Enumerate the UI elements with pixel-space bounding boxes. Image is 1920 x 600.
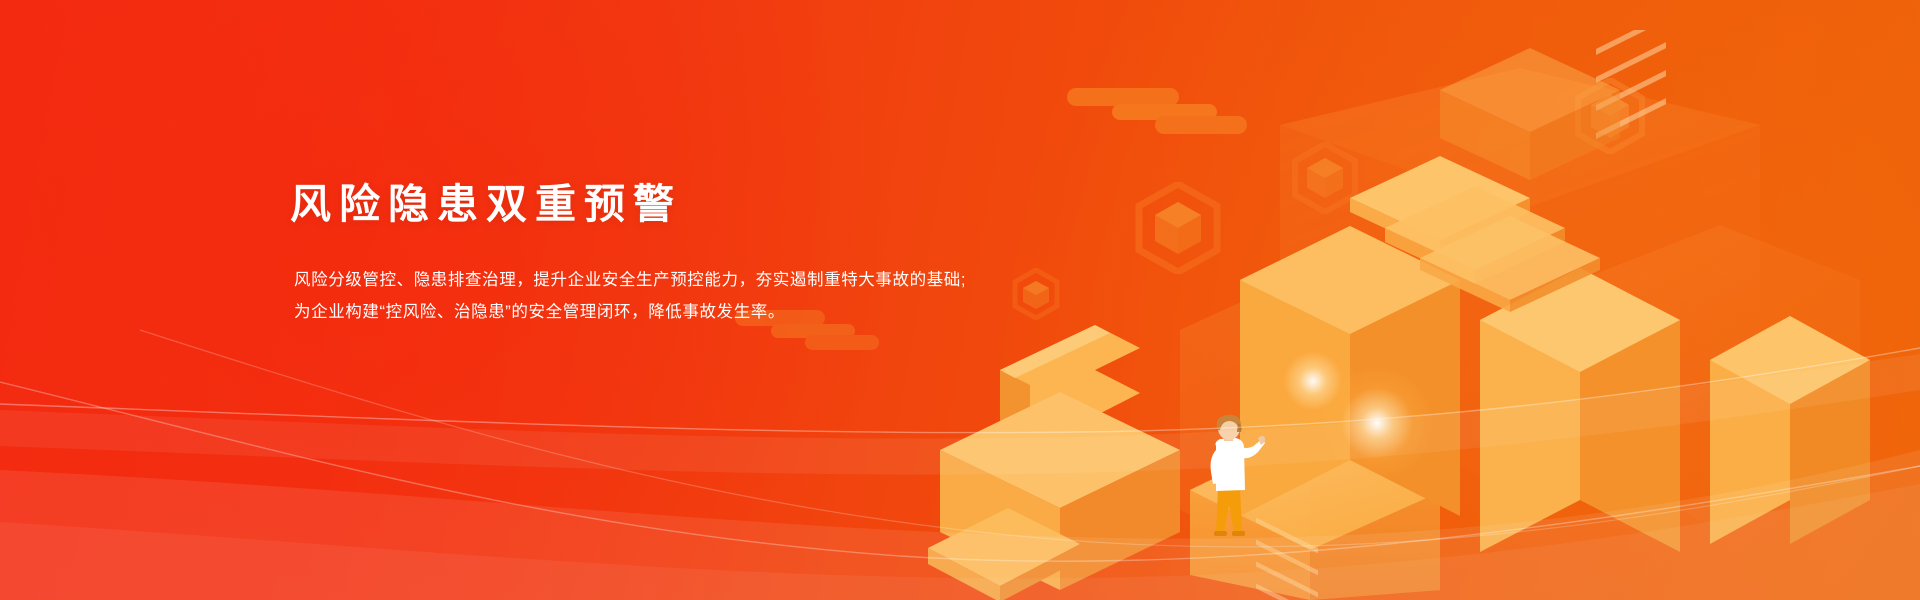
page-title: 风险隐患双重预警 (290, 178, 1070, 231)
hero-banner: 风险隐患双重预警 风险分级管控、隐患排查治理，提升企业安全生产预控能力，夯实遏制… (0, 0, 1920, 600)
glow-point-icon (1270, 338, 1356, 424)
hero-subtitle-line-2: 为企业构建“控风险、治隐患”的安全管理闭环，降低事故发生率。 (294, 296, 1070, 328)
glow-point-icon (1322, 368, 1432, 478)
hexagon-cube-icon (1292, 142, 1358, 214)
background-tint-right (980, 0, 1920, 600)
hexagon-cube-icon (1575, 78, 1645, 154)
cloud-motif-icon (1067, 88, 1217, 134)
hexagon-cube-icon (1135, 182, 1221, 274)
hero-subtitle-line-1: 风险分级管控、隐患排查治理，提升企业安全生产预控能力，夯实遏制重特大事故的基础; (294, 264, 1070, 296)
hero-subtitle: 风险分级管控、隐患排查治理，提升企业安全生产预控能力，夯实遏制重特大事故的基础;… (294, 264, 1070, 328)
hero-copy-block: 风险隐患双重预警 风险分级管控、隐患排查治理，提升企业安全生产预控能力，夯实遏制… (290, 178, 1070, 328)
person-pointing-illustration (1196, 414, 1266, 542)
